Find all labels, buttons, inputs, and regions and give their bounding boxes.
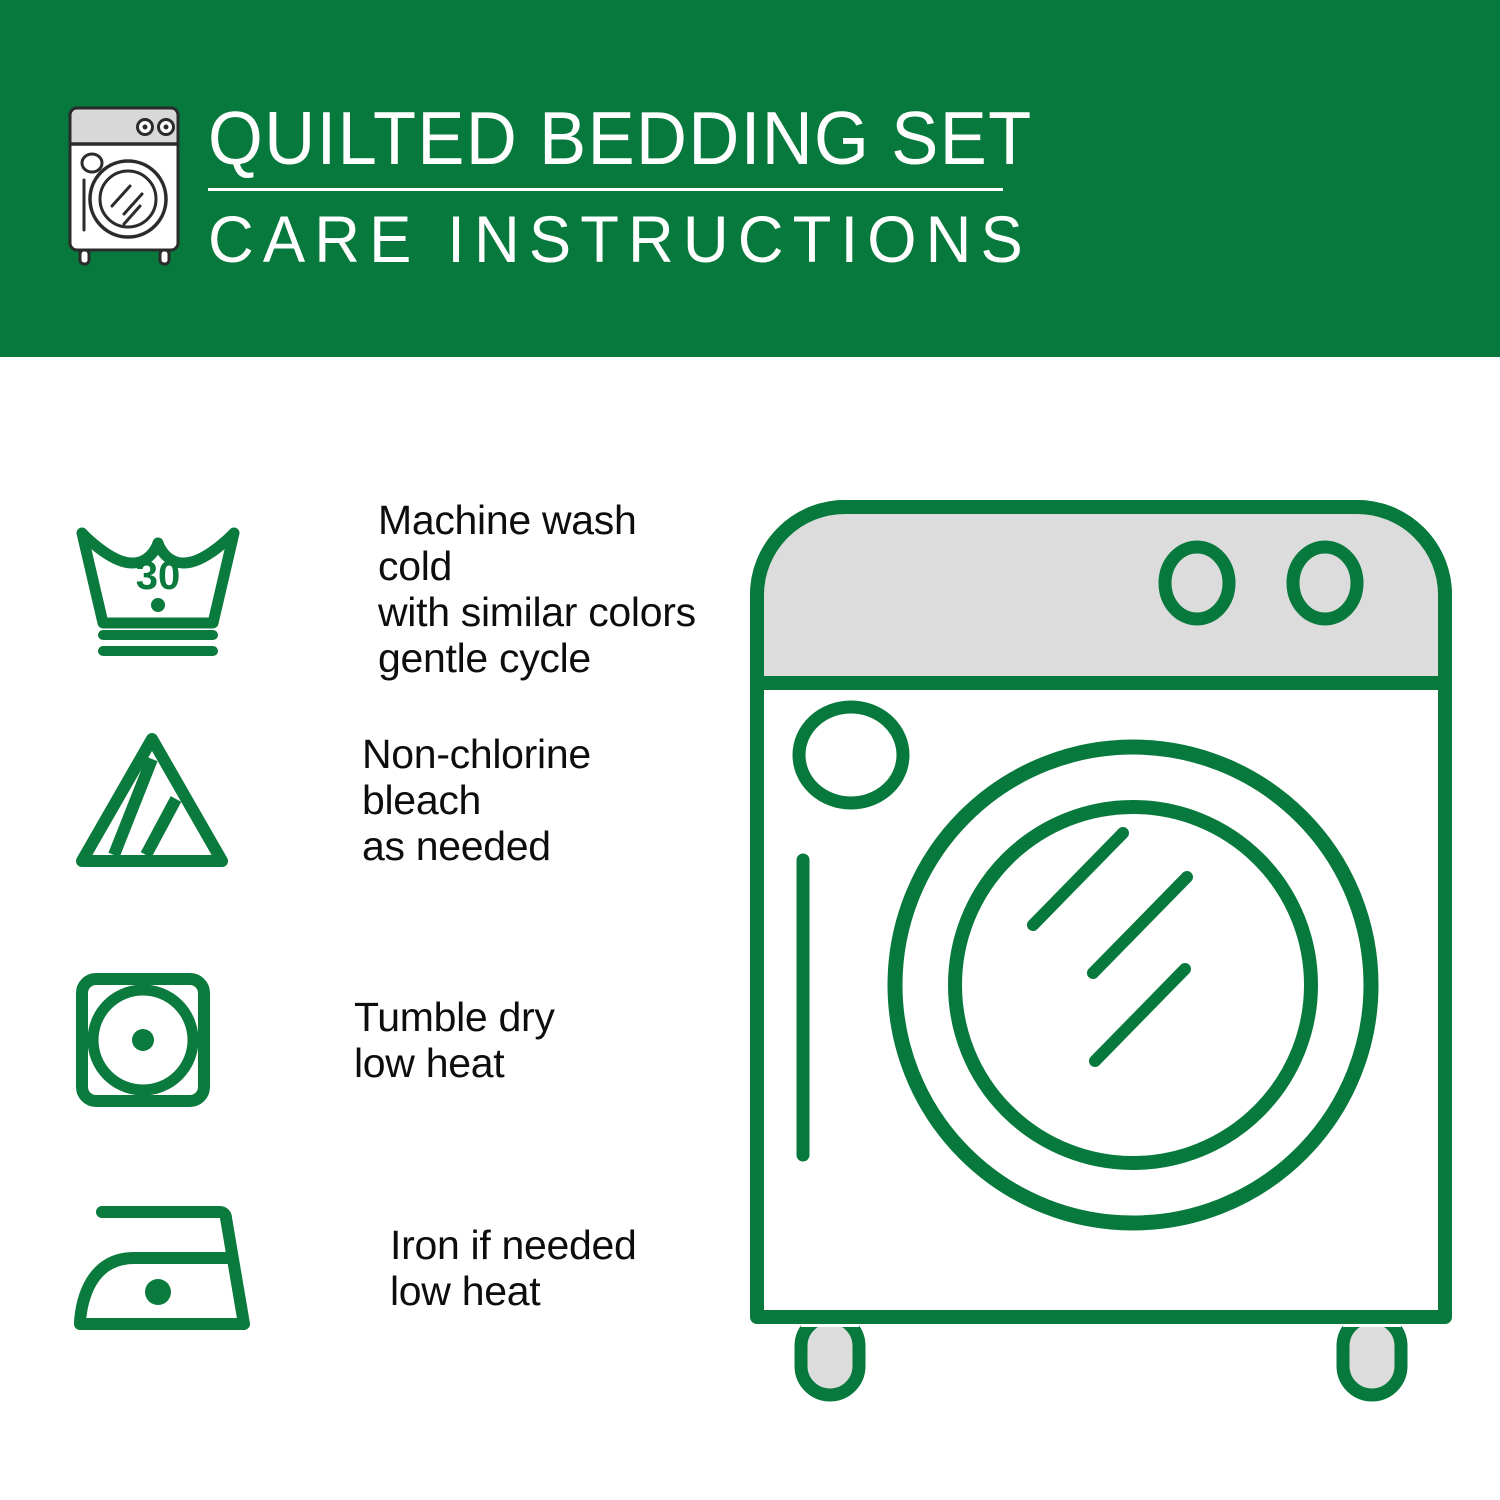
non-chlorine-bleach-triangle-icon [72, 729, 232, 871]
control-knob-left[interactable] [1165, 547, 1229, 619]
care-label-wash: Machine wash cold with similar colors ge… [378, 497, 720, 681]
care-row-iron: Iron if needed low heat [72, 1202, 637, 1334]
page-subtitle: CARE INSTRUCTIONS [208, 203, 1050, 275]
page-title: QUILTED BEDDING SET [208, 98, 1033, 178]
header-title-group: QUILTED BEDDING SET CARE INSTRUCTIONS [208, 96, 1085, 275]
washing-machine-illustration [745, 495, 1457, 1420]
header-content: QUILTED BEDDING SET CARE INSTRUCTIONS [62, 96, 1085, 275]
title-divider [208, 188, 1003, 191]
wash-temperature-value: 30 [136, 554, 181, 598]
care-label-iron: Iron if needed low heat [390, 1222, 637, 1314]
wash-tub-30-gentle-icon: 30 [72, 519, 244, 659]
control-knob-right[interactable] [1293, 547, 1357, 619]
care-row-tumble-dry: Tumble dry low heat [72, 969, 555, 1111]
care-row-bleach: Non-chlorine bleach as needed [72, 729, 720, 871]
care-instructions-page: QUILTED BEDDING SET CARE INSTRUCTIONS 30… [0, 0, 1500, 1500]
header-banner: QUILTED BEDDING SET CARE INSTRUCTIONS [0, 0, 1500, 357]
drum-inner-ring [955, 807, 1311, 1163]
care-row-wash: 30 Machine wash cold with similar colors… [72, 497, 720, 681]
care-symbol-list: 30 Machine wash cold with similar colors… [0, 357, 720, 1500]
iron-low-heat-icon [72, 1202, 252, 1334]
care-label-tumble-dry: Tumble dry low heat [354, 994, 555, 1086]
washing-machine-icon [62, 96, 194, 268]
detergent-dispenser [799, 707, 903, 803]
machine-leg-right [1343, 1317, 1401, 1395]
wash-dot [151, 598, 165, 612]
machine-leg-left [801, 1317, 859, 1395]
care-label-bleach: Non-chlorine bleach as needed [362, 731, 720, 869]
tumble-dry-low-icon [72, 969, 214, 1111]
